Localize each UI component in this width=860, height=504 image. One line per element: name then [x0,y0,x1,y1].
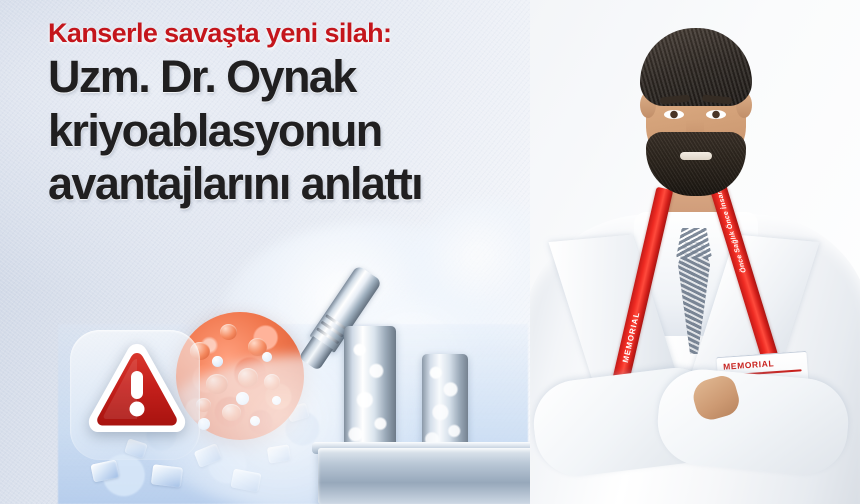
exclamation-mark-icon [131,371,143,399]
necktie-knot [676,228,712,258]
title-line-2: kriyoablasyonun [48,104,568,158]
news-banner: MEMORIAL Önce Sağlık Önce İnsan MEMORIAL… [0,0,860,504]
headline-block: Kanserle savaşta yeni silah: Uzm. Dr. Oy… [48,18,568,211]
headline-kicker: Kanserle savaşta yeni silah: [48,18,568,48]
title-line-1: Uzm. Dr. Oynak [48,50,568,104]
page-title: Uzm. Dr. Oynak kriyoablasyonun avantajla… [48,50,568,211]
mouth [680,152,712,160]
warning-triangle-icon [85,341,189,437]
doctor-portrait: MEMORIAL Önce Sağlık Önce İnsan MEMORIAL [530,0,860,504]
title-line-3: avantajlarını anlattı [48,157,568,211]
arm-right [654,366,852,478]
eye-right [706,110,726,119]
cryogenic-canister-icon [344,326,396,458]
cryogenic-tray [318,426,542,504]
eye-left [664,110,684,119]
